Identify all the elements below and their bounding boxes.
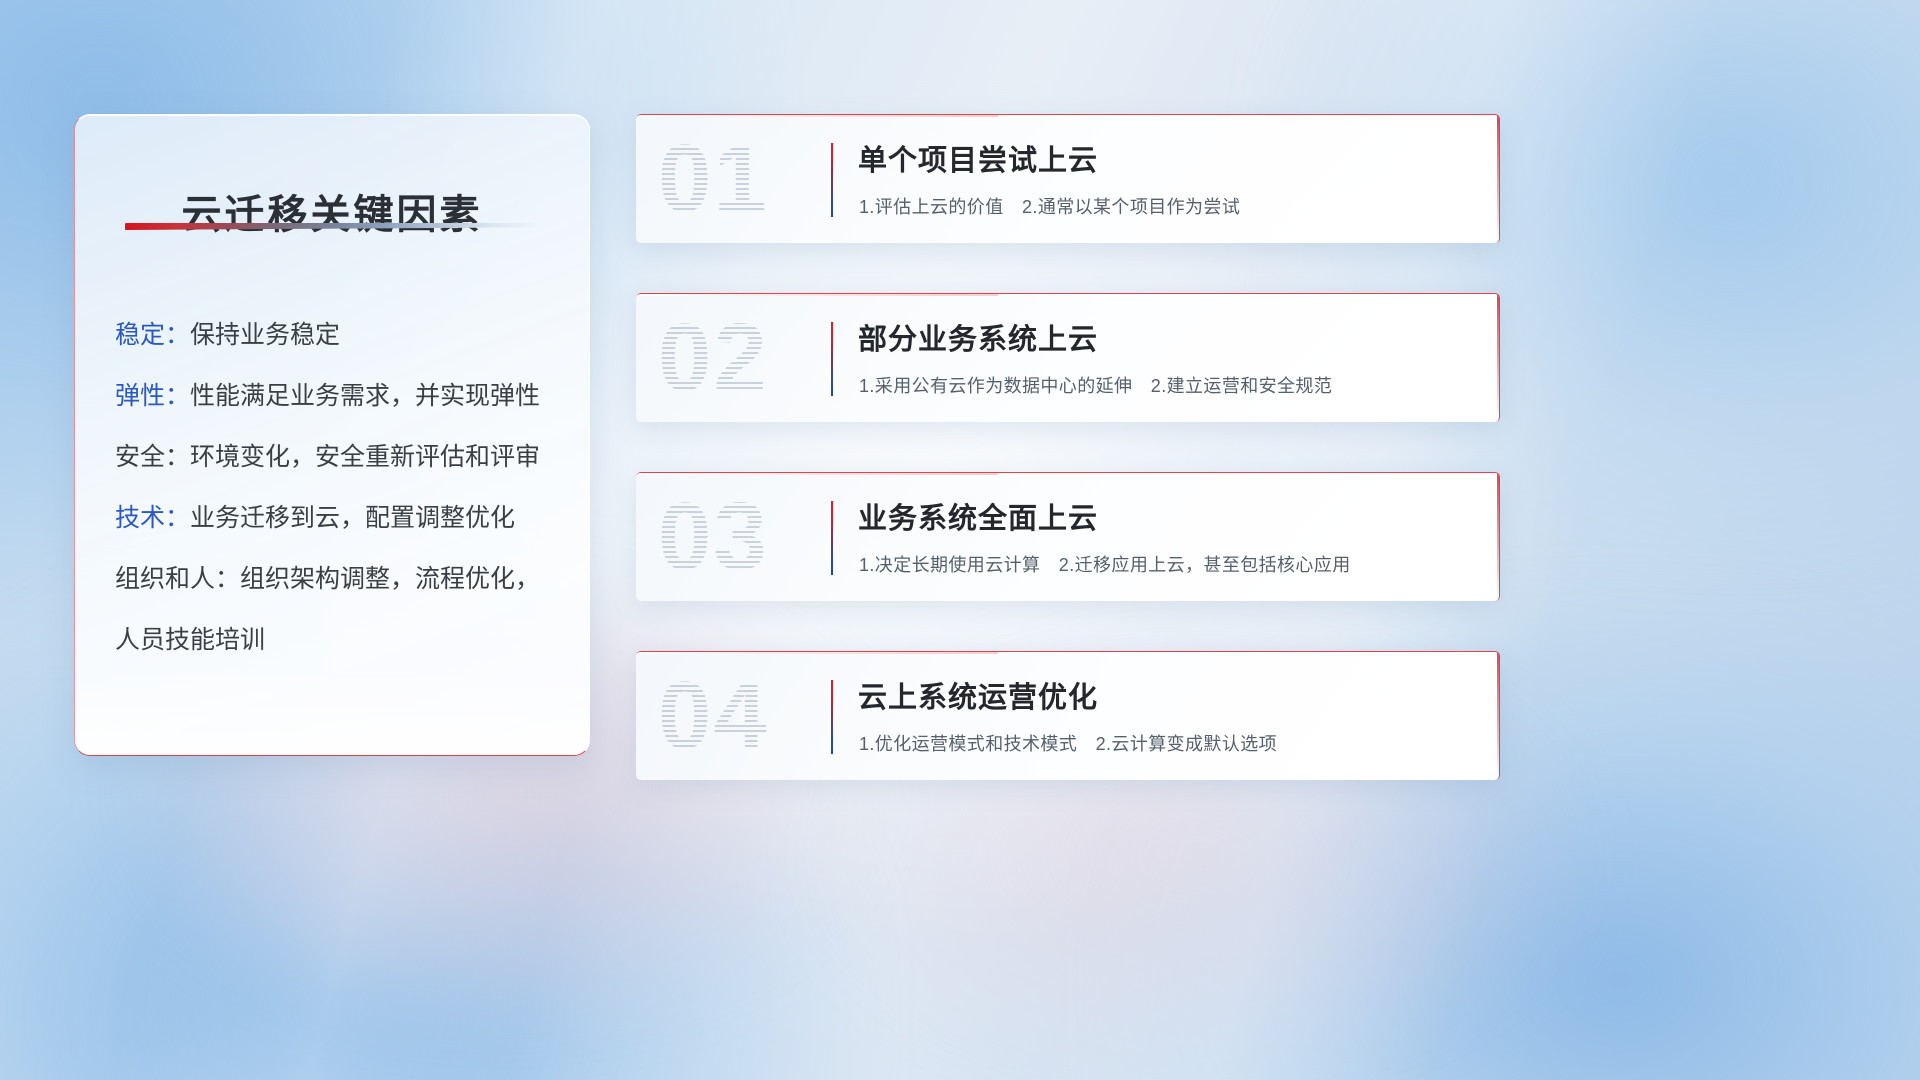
factor-row: 稳定：保持业务稳定 bbox=[115, 305, 563, 366]
factor-label: 稳定： bbox=[115, 321, 190, 349]
stage-description: 1.优化运营模式和技术模式 2.云计算变成默认选项 bbox=[859, 730, 1277, 756]
factor-row: 人员技能培训 bbox=[115, 610, 563, 671]
stage-number: 03 bbox=[658, 481, 838, 593]
cloud-migration-stage-list: 01单个项目尝试上云1.评估上云的价值 2.通常以某个项目作为尝试02部分业务系… bbox=[636, 114, 1500, 830]
factor-label: 安全： bbox=[115, 443, 190, 471]
stage-description: 1.决定长期使用云计算 2.迁移应用上云，甚至包括核心应用 bbox=[859, 551, 1351, 577]
stage-number: 04 bbox=[658, 660, 838, 772]
factor-label: 组织和人： bbox=[115, 565, 240, 593]
stage-card[interactable]: 03业务系统全面上云1.决定长期使用云计算 2.迁移应用上云，甚至包括核心应用 bbox=[636, 472, 1500, 601]
stage-number: 02 bbox=[658, 302, 838, 414]
stage-description: 1.评估上云的价值 2.通常以某个项目作为尝试 bbox=[859, 193, 1240, 219]
factor-description: 环境变化，安全重新评估和评审 bbox=[190, 443, 540, 471]
factor-description: 业务迁移到云，配置调整优化 bbox=[190, 504, 515, 532]
stage-title: 业务系统全面上云 bbox=[858, 495, 1098, 537]
stage-card[interactable]: 01单个项目尝试上云1.评估上云的价值 2.通常以某个项目作为尝试 bbox=[636, 114, 1500, 243]
stage-divider-accent bbox=[831, 322, 833, 396]
factor-row: 技术：业务迁移到云，配置调整优化 bbox=[115, 488, 563, 549]
key-factors-panel: 云迁移关键因素 稳定：保持业务稳定弹性：性能满足业务需求，并实现弹性安全：环境变… bbox=[74, 114, 590, 756]
page-title: 云迁移关键因素 bbox=[75, 182, 589, 240]
stage-card[interactable]: 02部分业务系统上云1.采用公有云作为数据中心的延伸 2.建立运营和安全规范 bbox=[636, 293, 1500, 422]
stage-card[interactable]: 04云上系统运营优化1.优化运营模式和技术模式 2.云计算变成默认选项 bbox=[636, 651, 1500, 780]
factor-label: 弹性： bbox=[115, 382, 190, 410]
factor-label: 技术： bbox=[115, 504, 190, 532]
stage-number: 01 bbox=[658, 123, 838, 235]
factor-row: 安全：环境变化，安全重新评估和评审 bbox=[115, 427, 563, 488]
factor-list: 稳定：保持业务稳定弹性：性能满足业务需求，并实现弹性安全：环境变化，安全重新评估… bbox=[115, 305, 563, 671]
stage-title: 云上系统运营优化 bbox=[858, 674, 1098, 716]
factor-description: 性能满足业务需求，并实现弹性 bbox=[190, 382, 540, 410]
factor-description: 人员技能培训 bbox=[115, 626, 265, 654]
factor-description: 保持业务稳定 bbox=[190, 321, 340, 349]
stage-title: 单个项目尝试上云 bbox=[858, 137, 1098, 179]
stage-divider-accent bbox=[831, 680, 833, 754]
factor-row: 组织和人：组织架构调整，流程优化， bbox=[115, 549, 563, 610]
factor-description: 组织架构调整，流程优化， bbox=[240, 565, 540, 593]
stage-description: 1.采用公有云作为数据中心的延伸 2.建立运营和安全规范 bbox=[859, 372, 1332, 398]
factor-row: 弹性：性能满足业务需求，并实现弹性 bbox=[115, 366, 563, 427]
stage-divider-accent bbox=[831, 143, 833, 217]
stage-title: 部分业务系统上云 bbox=[858, 316, 1098, 358]
stage-divider-accent bbox=[831, 501, 833, 575]
